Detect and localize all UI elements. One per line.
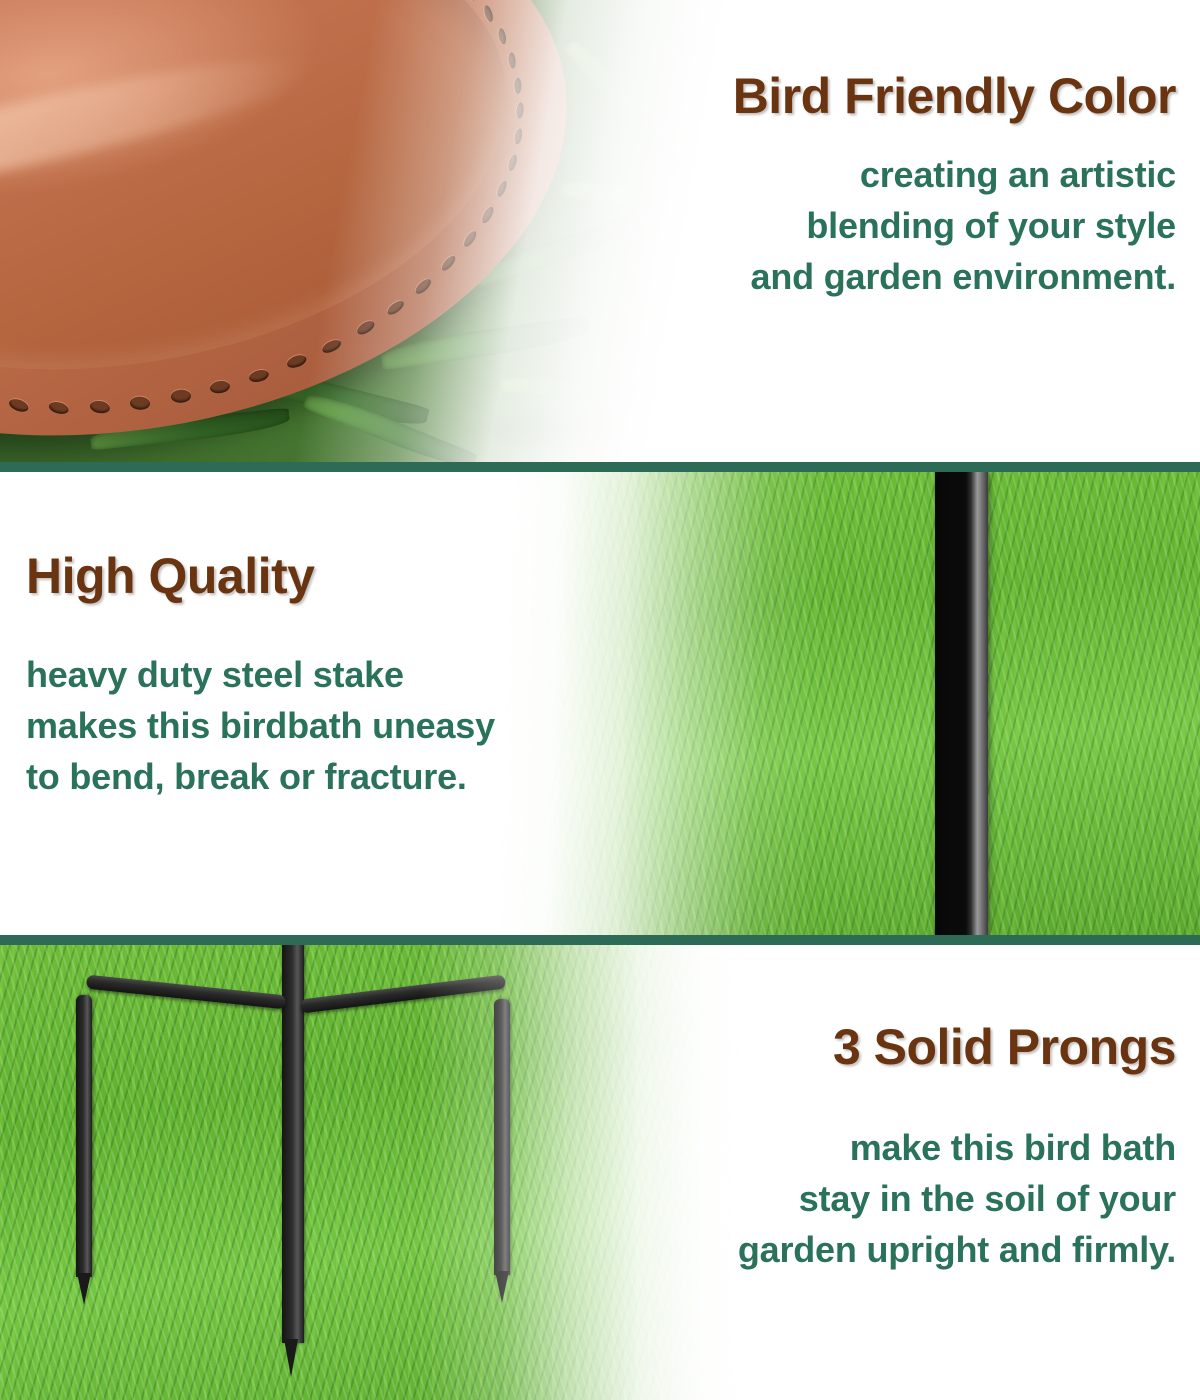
panel2-heading: High Quality: [26, 550, 666, 603]
panel2-body-line-2: makes this birdbath uneasy: [26, 700, 666, 751]
feature-panel-bird-friendly-color: Bird Friendly Color creating an artistic…: [0, 0, 1200, 462]
panel-divider-1: [0, 462, 1200, 472]
panel1-body-line-3: and garden environment.: [560, 251, 1176, 302]
panel-divider-2: [0, 935, 1200, 945]
panel3-body-line-3: garden upright and firmly.: [560, 1224, 1176, 1275]
panel1-body-line-1: creating an artistic: [560, 149, 1176, 200]
panel3-body: make this bird bath stay in the soil of …: [560, 1122, 1180, 1275]
feature-panel-three-solid-prongs: 3 Solid Prongs make this bird bath stay …: [0, 943, 1200, 1400]
panel2-text-block: High Quality heavy duty steel stake make…: [26, 550, 666, 802]
panel2-body-line-3: to bend, break or fracture.: [26, 751, 666, 802]
panel2-body: heavy duty steel stake makes this birdba…: [26, 649, 666, 802]
panel3-heading: 3 Solid Prongs: [560, 1021, 1176, 1074]
panel1-text-block: Bird Friendly Color creating an artistic…: [560, 70, 1180, 302]
panel3-body-line-2: stay in the soil of your: [560, 1173, 1176, 1224]
panel1-body: creating an artistic blending of your st…: [560, 149, 1180, 302]
panel2-body-line-1: heavy duty steel stake: [26, 649, 666, 700]
panel3-text-block: 3 Solid Prongs make this bird bath stay …: [560, 1021, 1180, 1275]
panel1-body-line-2: blending of your style: [560, 200, 1176, 251]
panel1-heading: Bird Friendly Color: [560, 70, 1176, 123]
feature-panel-high-quality: High Quality heavy duty steel stake make…: [0, 472, 1200, 935]
panel3-body-line-1: make this bird bath: [560, 1122, 1176, 1173]
product-feature-infographic: Bird Friendly Color creating an artistic…: [0, 0, 1200, 1400]
steel-pole: [935, 472, 988, 935]
